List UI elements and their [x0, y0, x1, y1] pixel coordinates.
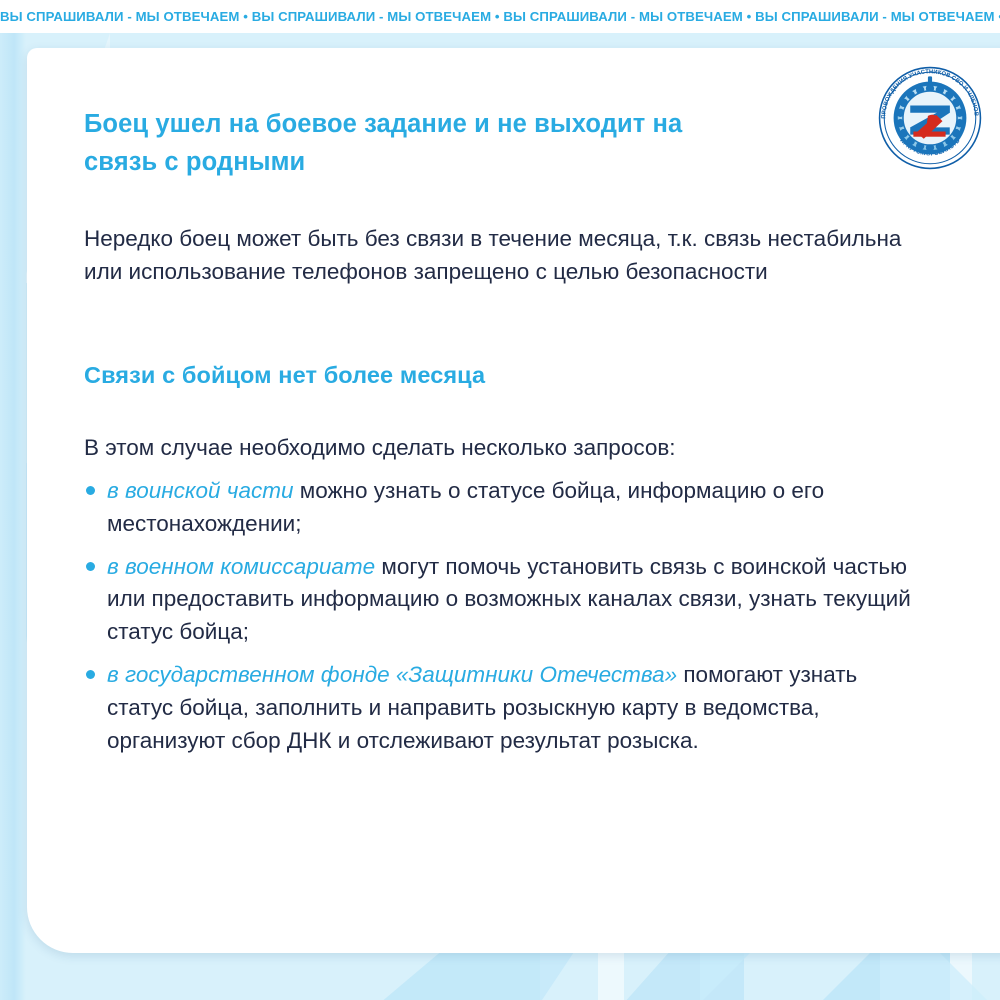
request-options-list: в воинской части можно узнать о статусе … — [84, 475, 939, 758]
content-card: ЦЕНТР СОПРОВОЖДЕНИЯ УЧАСТНИКОВ СВО И ЧЛЕ… — [27, 48, 1000, 953]
list-lead-text: В этом случае необходимо сделать несколь… — [84, 432, 939, 465]
page-title: Боец ушел на боевое задание и не выходит… — [84, 106, 704, 181]
card-content: Боец ушел на боевое задание и не выходит… — [84, 106, 939, 758]
section-subtitle: Связи с бойцом нет более месяца — [84, 359, 939, 392]
list-item: в военном комиссариате могут помочь уста… — [84, 551, 914, 650]
intro-paragraph: Нередко боец может быть без связи в тече… — [84, 223, 914, 289]
bg-band-left — [0, 33, 26, 1000]
list-item-highlight: в государственном фонде «Защитники Отече… — [107, 662, 677, 687]
ticker-text: ВЫ СПРАШИВАЛИ - МЫ ОТВЕЧАЕМ • ВЫ СПРАШИВ… — [0, 9, 1000, 24]
list-item: в государственном фонде «Защитники Отече… — [84, 659, 914, 758]
list-item-highlight: в военном комиссариате — [107, 554, 375, 579]
list-item: в воинской части можно узнать о статусе … — [84, 475, 914, 541]
list-item-highlight: в воинской части — [107, 478, 293, 503]
announcement-ticker: ВЫ СПРАШИВАЛИ - МЫ ОТВЕЧАЕМ • ВЫ СПРАШИВ… — [0, 0, 1000, 33]
